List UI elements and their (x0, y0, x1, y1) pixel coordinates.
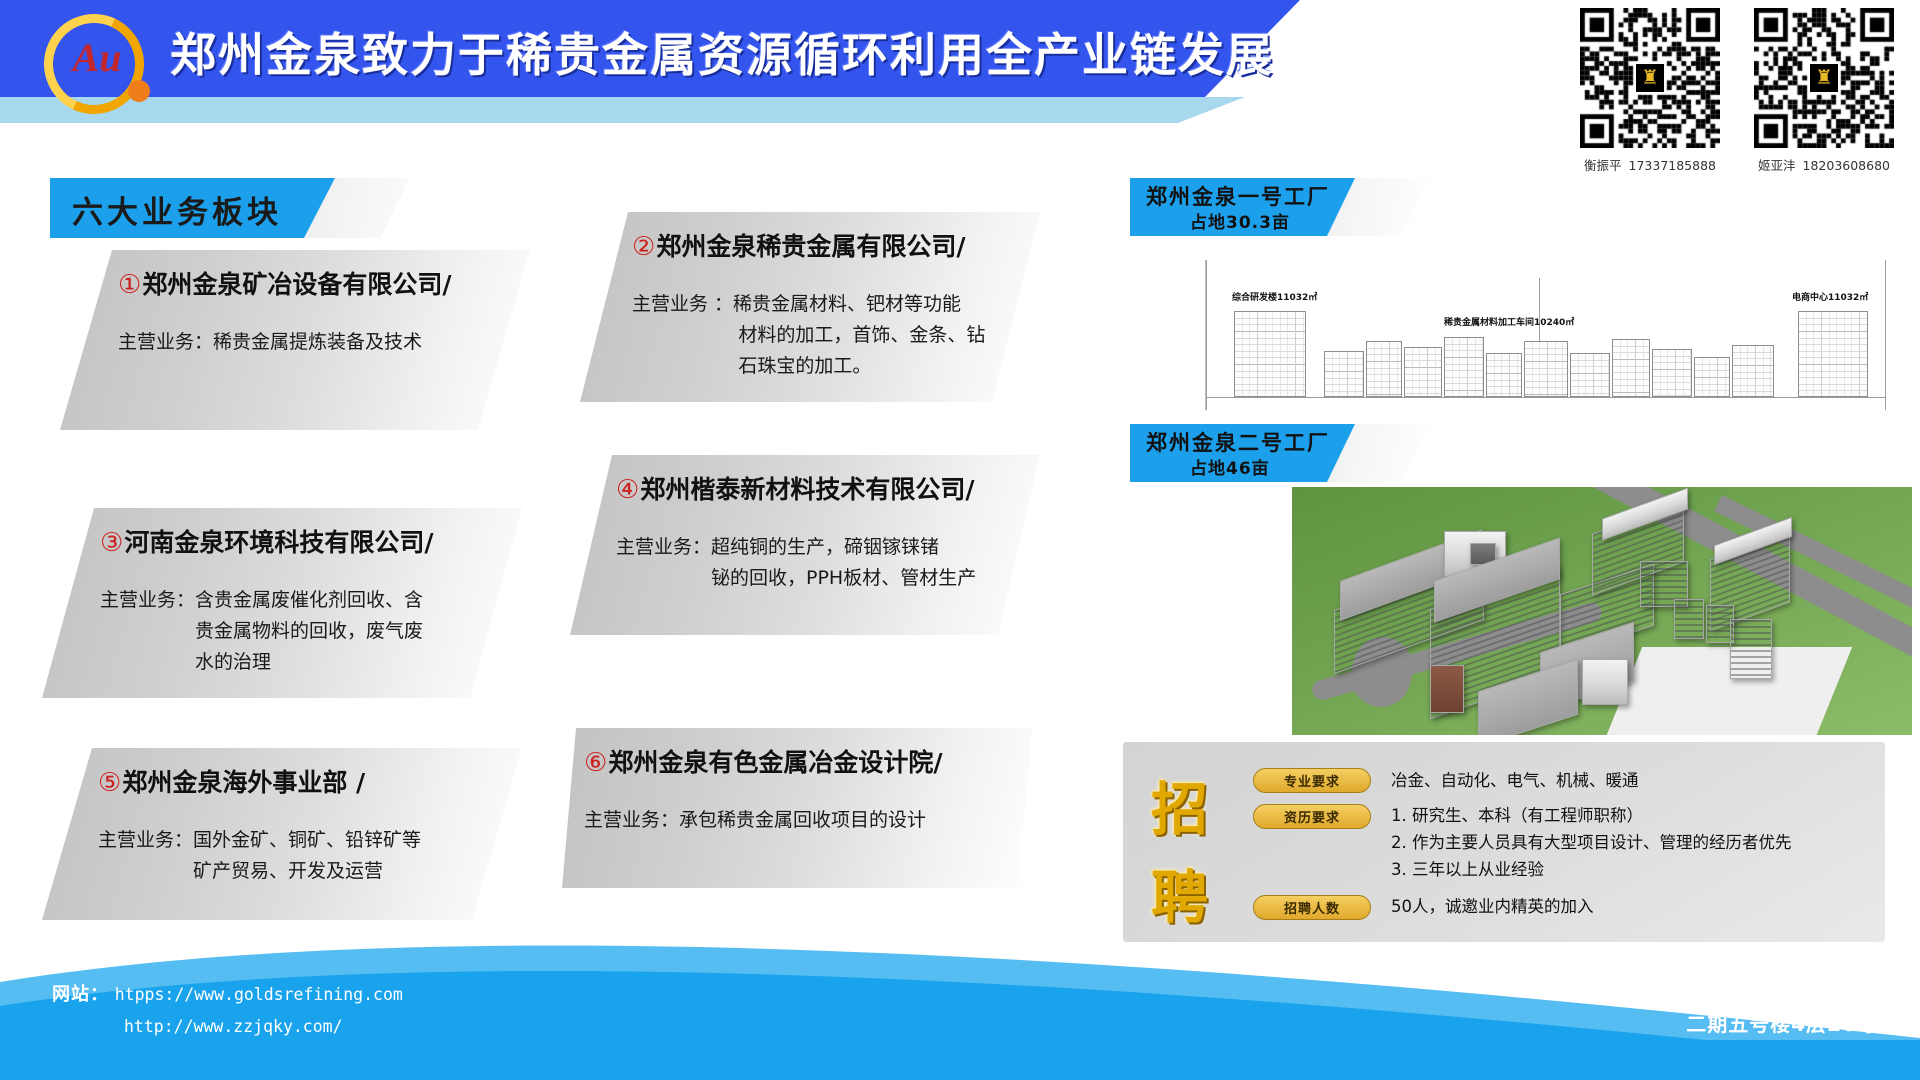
card-title: ①郑州金泉矿冶设备有限公司/ (118, 270, 500, 301)
contact-name: 姬亚沣 (1758, 158, 1796, 173)
building-block (1524, 341, 1568, 397)
card-title-text: 郑州金泉海外事业部 / (122, 768, 365, 797)
card-title-text: 河南金泉环境科技有限公司/ (124, 528, 433, 557)
card-title: ④郑州楷泰新材料技术有限公司/ (616, 475, 1010, 506)
card-number: ⑤ (98, 768, 121, 798)
building-block (1652, 349, 1692, 397)
recruit-text-qual-2: 2. 作为主要人员具有大型项目设计、管理的经历者优先 (1391, 830, 1792, 856)
qr-code-image[interactable]: ♜ (1580, 8, 1720, 148)
qr-row: ♜ 衡振平17337185888 ♜ 姬亚沣18203608680 (1554, 8, 1894, 174)
business-card-4[interactable]: ④郑州楷泰新材料技术有限公司/ 主营业务：超纯铜的生产，碲铟镓铼锗 铋的回收，P… (570, 455, 1040, 635)
website-url-2[interactable]: http://www.zzjqky.com/ (124, 1017, 343, 1036)
building-base (1430, 665, 1464, 713)
qr-caption: 姬亚沣18203608680 (1754, 155, 1894, 174)
page-footer: 网站： htpps://www.goldsrefining.com http:/… (0, 920, 1920, 1080)
card-number: ④ (616, 475, 639, 505)
factory-aerial-render (1292, 487, 1912, 735)
wave-fill (0, 1040, 1920, 1080)
elevation-label-1: 综合研发楼11032㎡ (1232, 290, 1317, 303)
building-block (1444, 337, 1484, 397)
recruit-text-qual-1: 1. 研究生、本科（有工程师职称） (1391, 803, 1643, 829)
recruit-text-headcount: 50人，诚邀业内精英的加入 (1391, 894, 1594, 920)
footer-website-row-2: http://www.zzjqky.com/ (52, 1011, 403, 1043)
card-line: 主营业务：稀贵金属提炼装备及技术 (118, 327, 500, 358)
card-line: 石珠宝的加工。 (632, 351, 1010, 382)
elevation-label-3: 电商中心11032㎡ (1792, 290, 1868, 303)
card-body: 主营业务：稀贵金属提炼装备及技术 (118, 327, 500, 358)
building-block (1324, 351, 1364, 397)
business-card-6[interactable]: ⑥郑州金泉有色金属冶金设计院/ 主营业务：承包稀贵金属回收项目的设计 (562, 728, 1032, 888)
footer-website-row-1: 网站： htpps://www.goldsrefining.com (52, 979, 403, 1011)
card-line: 铋的回收，PPH板材、管材生产 (616, 563, 1010, 594)
card-title: ⑤郑州金泉海外事业部 / (98, 768, 492, 799)
building-block (1570, 353, 1610, 397)
card-content: ③河南金泉环境科技有限公司/ 主营业务：含贵金属废催化剂回收、含 贵金属物料的回… (42, 508, 522, 698)
recruit-pill-headcount: 招聘人数 (1253, 895, 1371, 920)
card-line: 主营业务：承包稀贵金属回收项目的设计 (584, 805, 1002, 836)
card-title: ⑥郑州金泉有色金属冶金设计院/ (584, 748, 1002, 779)
contact-phone: 17337185888 (1629, 158, 1716, 173)
card-content: ④郑州楷泰新材料技术有限公司/ 主营业务：超纯铜的生产，碲铟镓铼锗 铋的回收，P… (570, 455, 1040, 635)
website-label: 网站： (52, 984, 109, 1005)
building-block (1732, 345, 1774, 397)
business-card-5[interactable]: ⑤郑州金泉海外事业部 / 主营业务：国外金矿、铜矿、铅锌矿等 矿产贸易、开发及运… (42, 748, 522, 920)
building-block (1366, 341, 1402, 397)
card-number: ③ (100, 528, 123, 558)
card-title-text: 郑州楷泰新材料技术有限公司/ (640, 475, 974, 504)
card-body: 主营业务：含贵金属废催化剂回收、含 贵金属物料的回收，废气废 水的治理 (100, 585, 492, 677)
elevation-label-2: 稀贵金属材料加工车间10240㎡ (1444, 315, 1574, 328)
business-card-3[interactable]: ③河南金泉环境科技有限公司/ 主营业务：含贵金属废催化剂回收、含 贵金属物料的回… (42, 508, 522, 698)
card-line: 材料的加工，首饰、金条、钻 (632, 320, 1010, 351)
page-header: Au 郑州金泉致力于稀贵金属资源循环利用全产业链发展 ♜ 衡振平17337185… (0, 0, 1920, 130)
card-line: 主营业务 ：稀贵金属材料、钯材等功能 (632, 289, 1010, 320)
recruit-char-1: 招 (1151, 764, 1208, 846)
card-title: ②郑州金泉稀贵金属有限公司/ (632, 232, 1010, 263)
factory-label-2: 郑州金泉二号工厂 占地46亩 (1130, 424, 1430, 482)
business-card-2[interactable]: ②郑州金泉稀贵金属有限公司/ 主营业务 ：稀贵金属材料、钯材等功能 材料的加工，… (580, 212, 1040, 402)
factory-name: 郑州金泉一号工厂 (1146, 181, 1330, 211)
section-title-banner: 六大业务板块 (50, 178, 410, 238)
building-block (1798, 311, 1868, 397)
header-band-secondary (0, 97, 1245, 123)
building-block (1404, 347, 1442, 397)
card-number: ① (118, 270, 141, 300)
business-card-1[interactable]: ①郑州金泉矿冶设备有限公司/ 主营业务：稀贵金属提炼装备及技术 (60, 250, 530, 430)
logo-dot-icon (128, 80, 150, 102)
recruit-pill-major: 专业要求 (1253, 768, 1371, 793)
au-logo: Au (38, 8, 158, 118)
card-content: ⑤郑州金泉海外事业部 / 主营业务：国外金矿、铜矿、铅锌矿等 矿产贸易、开发及运… (42, 748, 522, 920)
building-block (1612, 339, 1650, 397)
card-content: ⑥郑州金泉有色金属冶金设计院/ 主营业务：承包稀贵金属回收项目的设计 (562, 728, 1032, 888)
qr-caption: 衡振平17337185888 (1580, 155, 1720, 174)
website-url-1[interactable]: htpps://www.goldsrefining.com (115, 985, 403, 1004)
card-title-text: 郑州金泉矿冶设备有限公司/ (142, 270, 451, 299)
card-line: 主营业务：超纯铜的生产，碲铟镓铼锗 (616, 532, 1010, 563)
contact-phone: 18203608680 (1803, 158, 1890, 173)
factory-area: 占地30.3亩 (1190, 208, 1290, 233)
frame-line (1206, 260, 1207, 410)
recruit-pill-qualification: 资历要求 (1253, 804, 1371, 829)
card-number: ② (632, 232, 655, 262)
qr-code-image[interactable]: ♜ (1754, 8, 1894, 148)
card-content: ②郑州金泉稀贵金属有限公司/ 主营业务 ：稀贵金属材料、钯材等功能 材料的加工，… (580, 212, 1040, 402)
frame-line (1885, 260, 1886, 410)
card-line: 贵金属物料的回收，废气废 (100, 616, 492, 647)
qr-contact-zone: ♜ 衡振平17337185888 ♜ 姬亚沣18203608680 (1554, 8, 1894, 174)
card-line: 水的治理 (100, 647, 492, 678)
card-body: 主营业务：国外金矿、铜矿、铅锌矿等 矿产贸易、开发及运营 (98, 825, 492, 887)
building-block (1694, 357, 1730, 397)
section-title-text: 六大业务板块 (72, 187, 282, 232)
card-number: ⑥ (584, 748, 607, 778)
card-body: 主营业务：承包稀贵金属回收项目的设计 (584, 805, 1002, 836)
card-line: 主营业务：含贵金属废催化剂回收、含 (100, 585, 492, 616)
factory-area: 占地46亩 (1190, 454, 1270, 479)
parking-lot (1602, 647, 1852, 735)
qr-avatar-icon: ♜ (1810, 64, 1838, 92)
ground-line (1206, 397, 1886, 398)
card-title-text: 郑州金泉有色金属冶金设计院/ (608, 748, 942, 777)
factory-elevation-drawing: 综合研发楼11032㎡ 稀贵金属材料加工车间10240㎡ 电商中心11032㎡ (1205, 260, 1885, 410)
page-title: 郑州金泉致力于稀贵金属资源循环利用全产业链发展 (170, 19, 1274, 85)
factory-label-1: 郑州金泉一号工厂 占地30.3亩 (1130, 178, 1430, 236)
building-block (1234, 311, 1306, 397)
card-body: 主营业务：超纯铜的生产，碲铟镓铼锗 铋的回收，PPH板材、管材生产 (616, 532, 1010, 594)
card-title: ③河南金泉环境科技有限公司/ (100, 528, 492, 559)
qr-contact-0: ♜ 衡振平17337185888 (1580, 8, 1720, 174)
dormitory (1730, 619, 1772, 679)
qr-avatar-icon: ♜ (1636, 64, 1664, 92)
dormitory (1674, 599, 1704, 639)
recruit-text-major: 冶金、自动化、电气、机械、暖通 (1391, 768, 1639, 794)
building-block (1486, 353, 1522, 397)
factory-name: 郑州金泉二号工厂 (1146, 427, 1330, 457)
qr-contact-1: ♜ 姬亚沣18203608680 (1754, 8, 1894, 174)
card-title-text: 郑州金泉稀贵金属有限公司/ (656, 232, 965, 261)
card-line: 矿产贸易、开发及运营 (98, 856, 492, 887)
footer-address-block: 地址：河南省郑州市高新区龙鼎 二期五号楼4层20号 (1584, 970, 1878, 1042)
card-body: 主营业务 ：稀贵金属材料、钯材等功能 材料的加工，首饰、金条、钻 石珠宝的加工。 (632, 289, 1010, 381)
warehouse (1582, 659, 1628, 705)
contact-name: 衡振平 (1584, 158, 1622, 173)
card-content: ①郑州金泉矿冶设备有限公司/ 主营业务：稀贵金属提炼装备及技术 (60, 250, 530, 430)
logo-text: Au (54, 34, 140, 81)
footer-website-block: 网站： htpps://www.goldsrefining.com http:/… (52, 979, 403, 1042)
recruitment-panel: 招 聘 专业要求 冶金、自动化、电气、机械、暖通 资历要求 1. 研究生、本科（… (1123, 742, 1885, 942)
recruit-text-qual-3: 3. 三年以上从业经验 (1391, 857, 1544, 883)
card-line: 主营业务：国外金矿、铜矿、铅锌矿等 (98, 825, 492, 856)
address-line-2: 二期五号楼4层20号 (1584, 1006, 1878, 1042)
address-line-1: 地址：河南省郑州市高新区龙鼎 (1584, 970, 1878, 1006)
